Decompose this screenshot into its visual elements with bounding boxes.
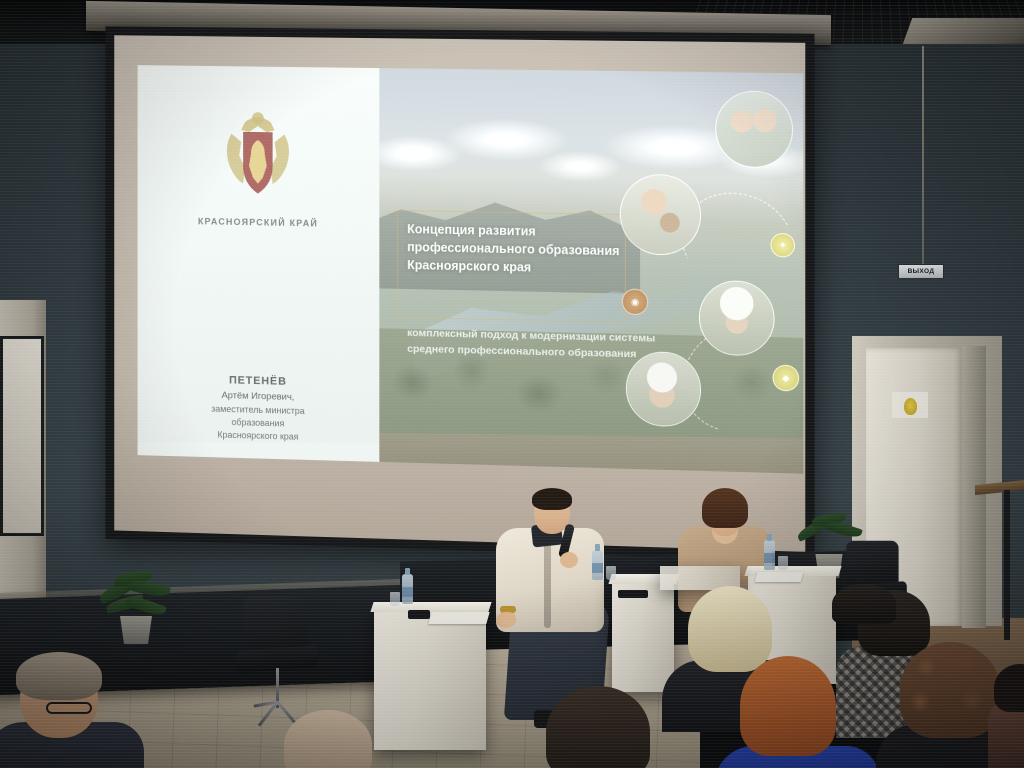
audience-far-right-cap: [832, 584, 902, 644]
woman-hair: [702, 488, 748, 528]
circle-photo-inner: [700, 281, 774, 355]
audience-head: [546, 686, 650, 768]
pedestal-top-surface: [370, 602, 491, 612]
pedestal-table-left: [374, 608, 486, 750]
audience-man-glasses: [0, 650, 144, 768]
audience-grey-hair-left: [270, 706, 390, 768]
man-jacket-placket: [544, 534, 551, 628]
slide-region-label: КРАСНОЯРСКИЙ КРАЙ: [138, 215, 380, 229]
projection-screen-surface: Концепция развития профессионального обр…: [114, 35, 805, 552]
coat-of-arms-krasnoyarsk-icon: [216, 108, 301, 205]
water-bottle-right[interactable]: [764, 540, 775, 570]
slide-badge-yellow-top: ✦: [770, 233, 795, 258]
slide-subtitle: комплексный подход к модернизации систем…: [407, 326, 658, 363]
exit-sign: ВЫХОД: [898, 264, 944, 279]
drinking-glass-right[interactable]: [778, 556, 788, 570]
potted-plant-left: [92, 568, 184, 644]
conference-hall-photo: ВЫХОД Концепция развития профессионально…: [0, 0, 1024, 768]
slide-photo-circle-worker-cap: [699, 280, 775, 356]
slide-badge-yellow-bottom: ◆: [772, 365, 799, 392]
presentation-slide: Концепция развития профессионального обр…: [138, 65, 804, 474]
circle-photo-inner: [716, 91, 792, 167]
bottle-label: [592, 563, 603, 573]
audience-cap: [832, 584, 896, 624]
phone-left[interactable]: [408, 610, 430, 619]
remote-control-center[interactable]: [618, 590, 648, 598]
audience-dark-hair-front: [536, 684, 666, 768]
circle-photo-inner: [621, 175, 700, 255]
plant-leaf: [125, 594, 167, 619]
audience-head: [740, 656, 836, 756]
drinking-glass-left[interactable]: [390, 592, 400, 606]
papers-right[interactable]: [755, 572, 804, 582]
water-bottle-left[interactable]: [402, 574, 413, 604]
slide-badge-orange: ◉: [622, 288, 648, 315]
slide-photo-circle-senior-man: [626, 351, 701, 427]
audience-head: [284, 710, 372, 768]
man-resting-hand: [496, 612, 516, 628]
slide-left-panel: КРАСНОЯРСКИЙ КРАЙ ПЕТЕНЁВ Артём Игоревич…: [138, 65, 380, 462]
office-chair-left[interactable]: [232, 596, 324, 716]
exit-sign-rod: [922, 46, 924, 266]
slide-landscape-photo: Концепция развития профессионального обр…: [379, 68, 803, 474]
bottle-label: [764, 553, 775, 563]
drinking-glass-center[interactable]: [606, 566, 616, 580]
door-sign-mark-icon: [904, 398, 917, 415]
photo-ground-strip: [379, 433, 803, 473]
audience-right-edge: [988, 664, 1024, 768]
papers-left[interactable]: [428, 612, 489, 624]
eyeglasses-icon: [46, 702, 92, 714]
door-notice-sign: [892, 392, 928, 418]
side-desk-leg: [1004, 490, 1010, 640]
audience-head: [994, 664, 1024, 712]
slide-photo-circle-youth-pair: [715, 90, 793, 168]
plant-pot: [116, 616, 156, 644]
circle-photo-inner: [627, 352, 700, 426]
slide-photo-circle-welder: [620, 174, 701, 256]
water-bottle-center[interactable]: [592, 550, 603, 580]
slide-speaker-block: ПЕТЕНЁВ Артём Игоревич, заместитель мини…: [138, 371, 380, 446]
audience-hair: [16, 652, 102, 700]
man-hair: [532, 488, 572, 510]
left-wall-panel: [0, 336, 44, 536]
projection-screen-frame: Концепция развития профессионального обр…: [106, 26, 815, 561]
bottle-label: [402, 587, 413, 597]
audience-head: [900, 642, 1000, 738]
man-hand: [560, 552, 578, 568]
plant-leaf: [825, 519, 863, 541]
